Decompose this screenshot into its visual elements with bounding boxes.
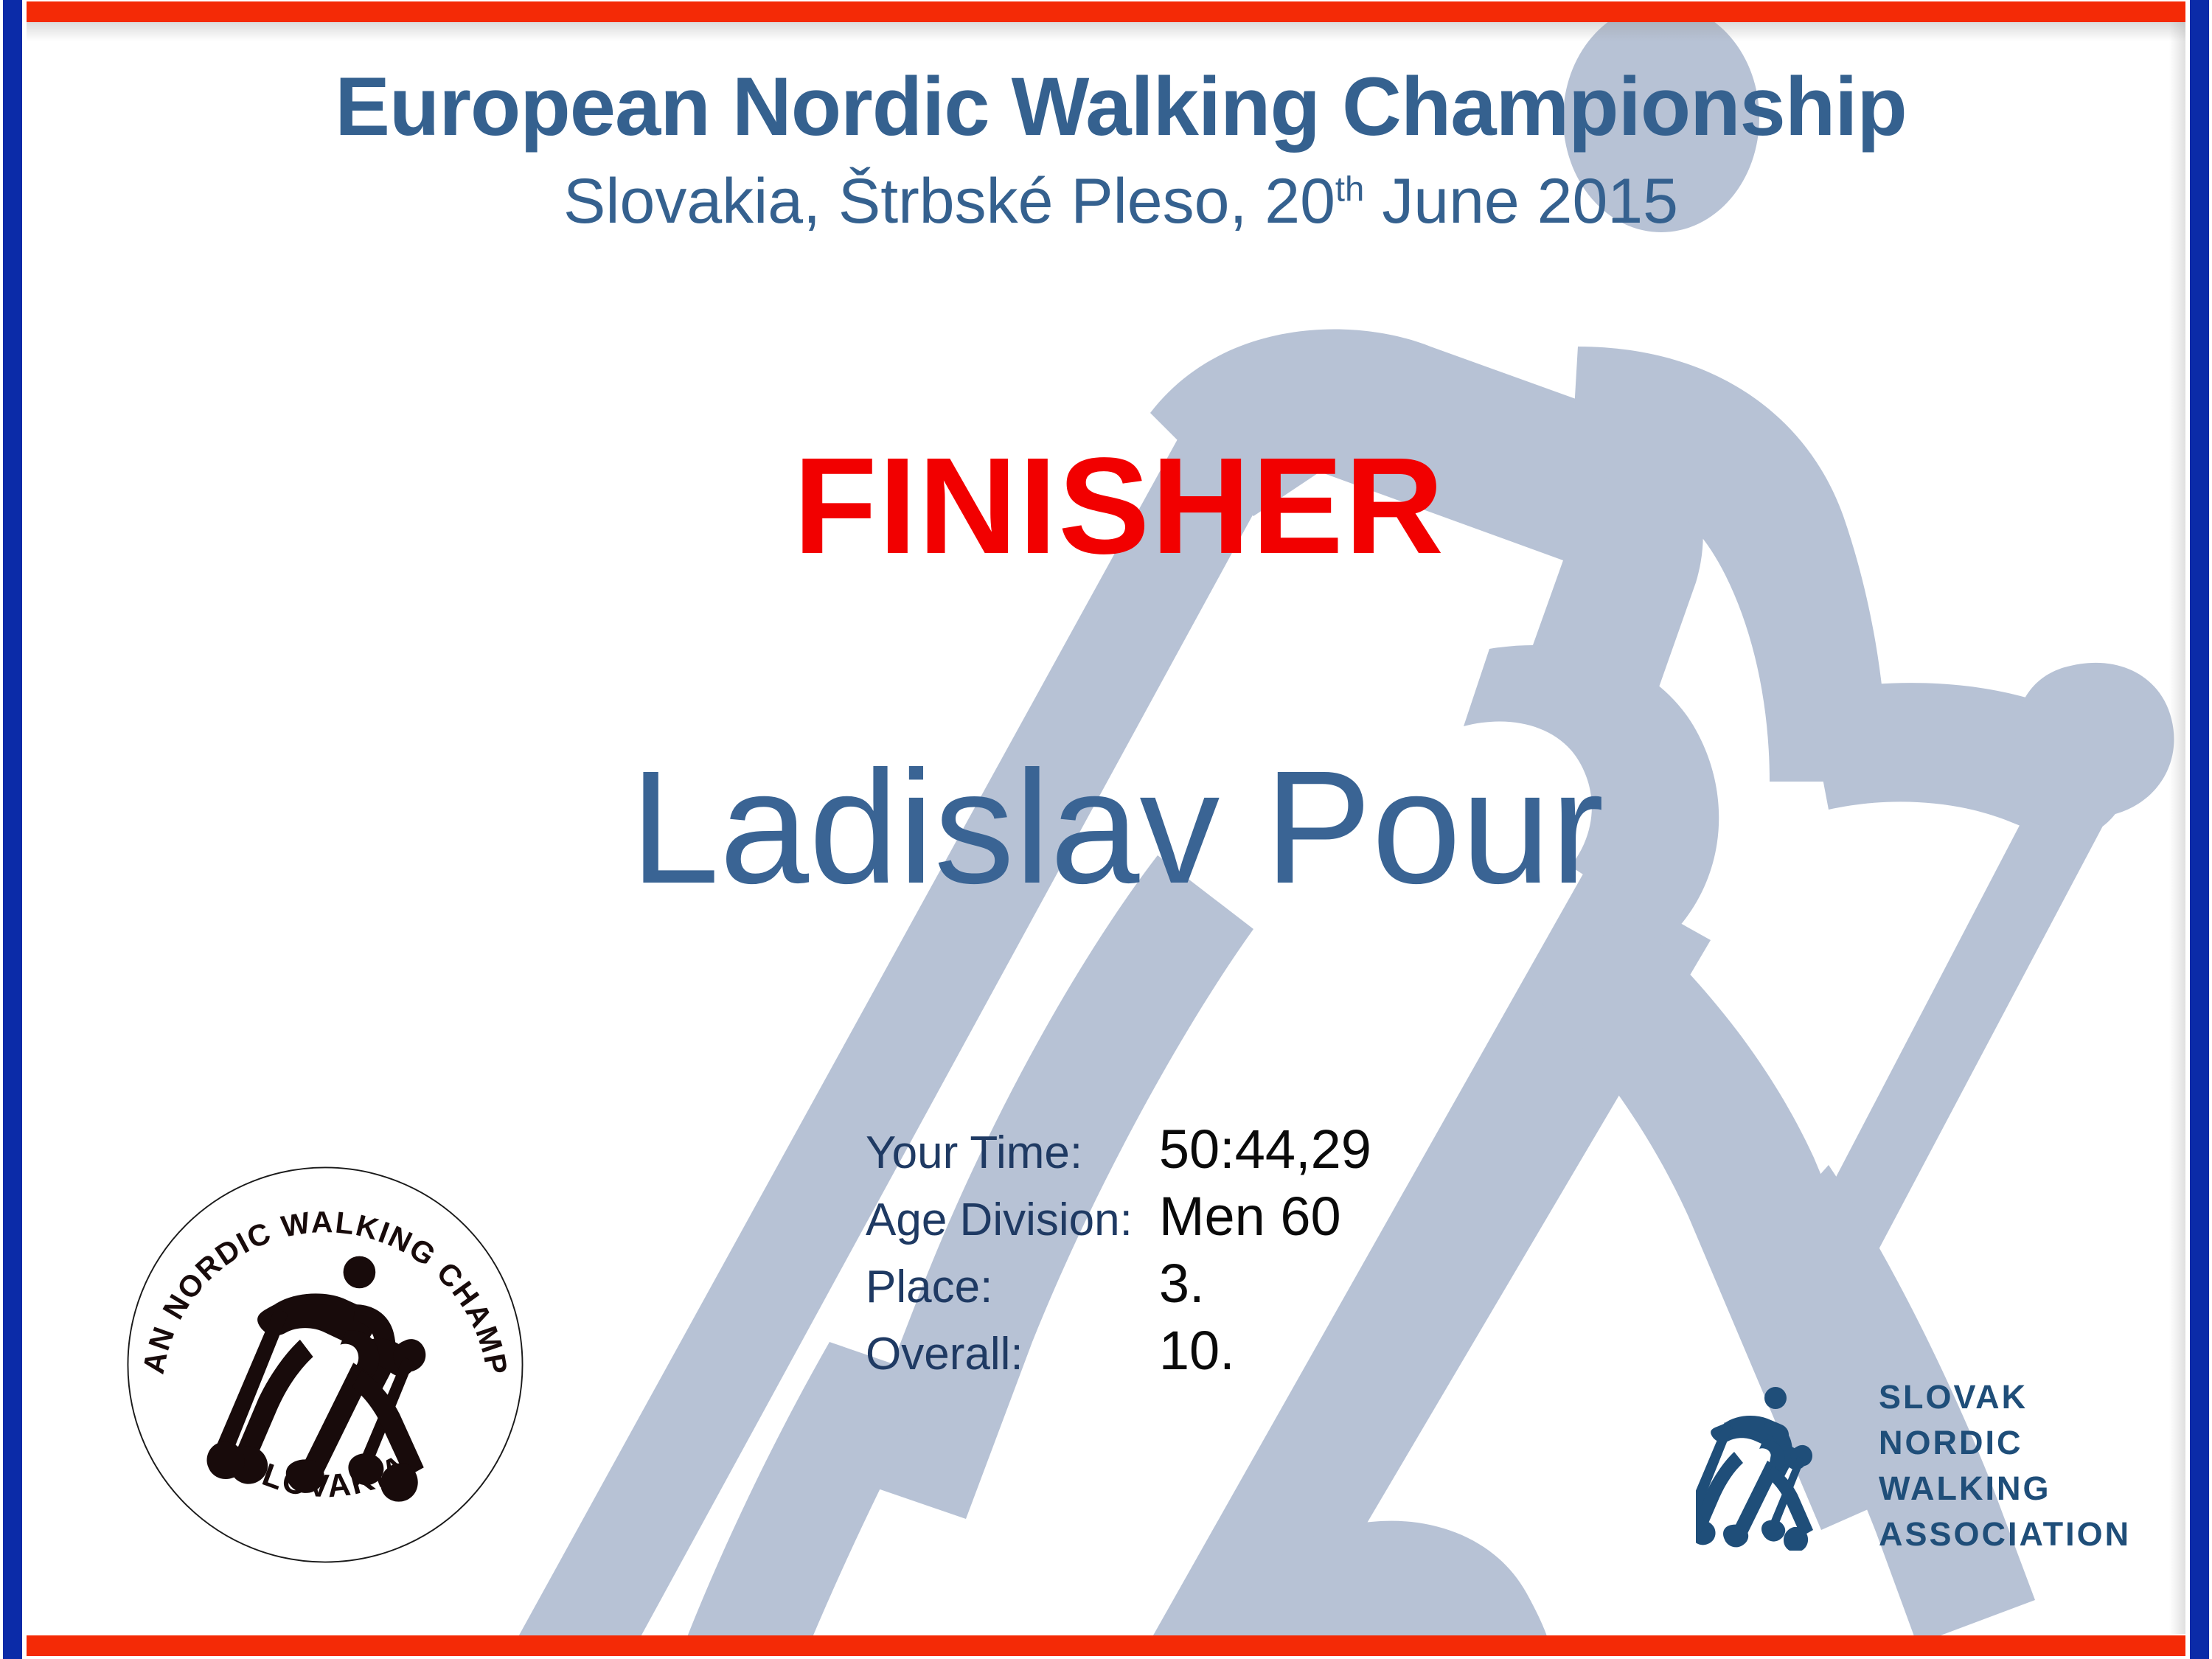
result-label-age-division: Age Division: — [866, 1185, 1159, 1252]
snwa-line-1: SLOVAK — [1879, 1374, 2168, 1420]
status-badge: FINISHER — [0, 428, 2212, 585]
event-title: European Nordic Walking Championship — [0, 63, 2212, 150]
result-value-place: 3. — [1159, 1252, 1371, 1319]
snwa-walker-icon — [1696, 1381, 1865, 1551]
results-table: Your Time: 50:44,29 Age Division: Men 60… — [866, 1118, 1371, 1386]
result-label-your-time: Your Time: — [866, 1118, 1159, 1185]
border-rail-left — [3, 0, 22, 1659]
result-value-age-division: Men 60 — [1159, 1185, 1371, 1252]
subtitle-prefix: Slovakia, Štrbské Pleso, 20 — [563, 166, 1335, 237]
border-bar-bottom — [27, 1635, 2185, 1656]
result-value-overall: 10. — [1159, 1319, 1371, 1386]
certificate-page: European Nordic Walking Championship Slo… — [0, 0, 2212, 1659]
border-bar-top — [27, 1, 2185, 22]
snwa-logo: SLOVAK NORDIC WALKING ASSOCIATION — [1696, 1377, 2168, 1554]
snwa-line-2: NORDIC WALKING — [1879, 1420, 2168, 1512]
table-row: Place: 3. — [866, 1252, 1371, 1319]
table-row: Age Division: Men 60 — [866, 1185, 1371, 1252]
snwa-wordmark: SLOVAK NORDIC WALKING ASSOCIATION — [1879, 1374, 2168, 1557]
inner-shadow-top — [27, 22, 2185, 41]
header-block: European Nordic Walking Championship Slo… — [0, 63, 2212, 236]
athlete-name: Ladislav Pour — [0, 736, 2212, 920]
snwa-line-3: ASSOCIATION — [1879, 1512, 2168, 1557]
subtitle-suffix: June 2015 — [1364, 166, 1678, 237]
result-label-place: Place: — [866, 1252, 1159, 1319]
table-row: Your Time: 50:44,29 — [866, 1118, 1371, 1185]
enwc-circular-logo: EUROPEAN NORDIC WALKING CHAMPIONSHIP SLO… — [124, 1164, 526, 1566]
result-label-overall: Overall: — [866, 1319, 1159, 1386]
event-location-date: Slovakia, Štrbské Pleso, 20th June 2015 — [0, 167, 2212, 237]
ordinal-suffix: th — [1335, 170, 1364, 209]
result-value-your-time: 50:44,29 — [1159, 1118, 1371, 1185]
table-row: Overall: 10. — [866, 1319, 1371, 1386]
border-rail-right — [2190, 0, 2209, 1659]
